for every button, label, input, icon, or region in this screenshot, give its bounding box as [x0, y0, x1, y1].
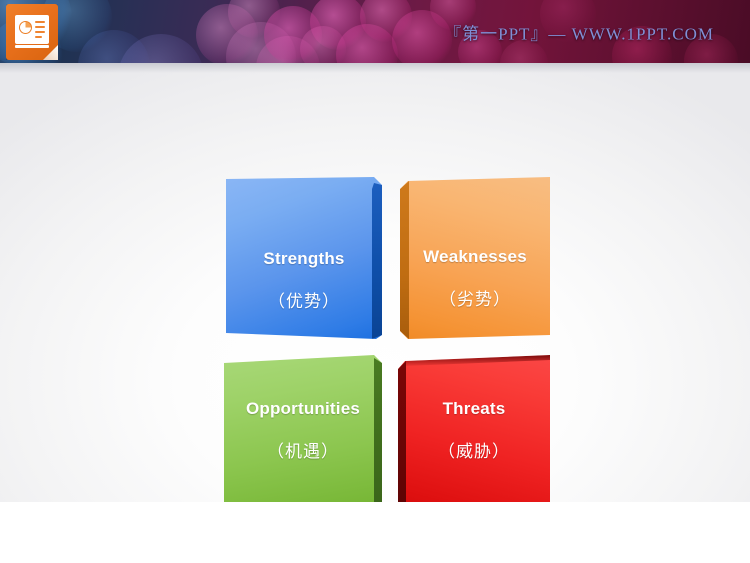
quadrant-title-english: Strengths [226, 249, 382, 269]
bokeh-circle [228, 0, 280, 38]
logo-text-line [35, 36, 42, 38]
header-banner: 『第一PPT』— WWW.1PPT.COM [0, 0, 750, 63]
bokeh-circle [360, 0, 412, 42]
quadrant-edge-shadow [371, 355, 382, 515]
pie-chart-icon [19, 21, 32, 34]
footer-bar: 第一PPT HTTP://WWW.1PPT.COM [0, 502, 750, 563]
bokeh-circle [336, 24, 398, 63]
bokeh-circle [78, 30, 150, 63]
bokeh-circle [310, 0, 366, 50]
quadrant-edge-shadow [398, 355, 408, 515]
logo-stand [15, 45, 49, 48]
powerpoint-document-icon[interactable] [6, 4, 58, 60]
bokeh-circle [256, 36, 320, 63]
bokeh-circle [300, 26, 346, 63]
swot-quadrant-weaknesses[interactable]: Weaknesses （劣势） [400, 177, 550, 339]
swot-quadrant-strengths[interactable]: Strengths （优势） [226, 177, 382, 339]
header-site-title: 『第一PPT』— WWW.1PPT.COM [444, 19, 714, 44]
quadrant-title-chinese: （威胁） [398, 437, 550, 462]
quadrant-title-english: Weaknesses [400, 247, 550, 267]
quadrant-title-english: Threats [398, 399, 550, 419]
quadrant-top-edge-shadow [398, 355, 550, 367]
bokeh-circle [264, 6, 322, 63]
swot-quadrant-opportunities[interactable]: Opportunities （机遇） [224, 355, 382, 515]
swot-quadrant-threats[interactable]: Threats （威胁） [398, 355, 550, 515]
slide-body: Strengths （优势） Weaknesses （劣势） Opportuni… [0, 63, 750, 502]
quadrant-title-chinese: （优势） [226, 287, 382, 312]
bokeh-circle [118, 34, 204, 63]
bokeh-circle [392, 10, 452, 63]
logo-text-line [35, 31, 45, 33]
quadrant-title-chinese: （劣势） [400, 285, 550, 310]
quadrant-title-english: Opportunities [224, 399, 382, 419]
bokeh-circle [226, 22, 296, 63]
logo-text-line [35, 26, 45, 28]
bokeh-circle [196, 4, 258, 63]
logo-text-line [35, 21, 45, 23]
slide-canvas: 『第一PPT』— WWW.1PPT.COM Strengths （优势） Wea… [0, 0, 750, 563]
quadrant-title-chinese: （机遇） [224, 437, 382, 462]
